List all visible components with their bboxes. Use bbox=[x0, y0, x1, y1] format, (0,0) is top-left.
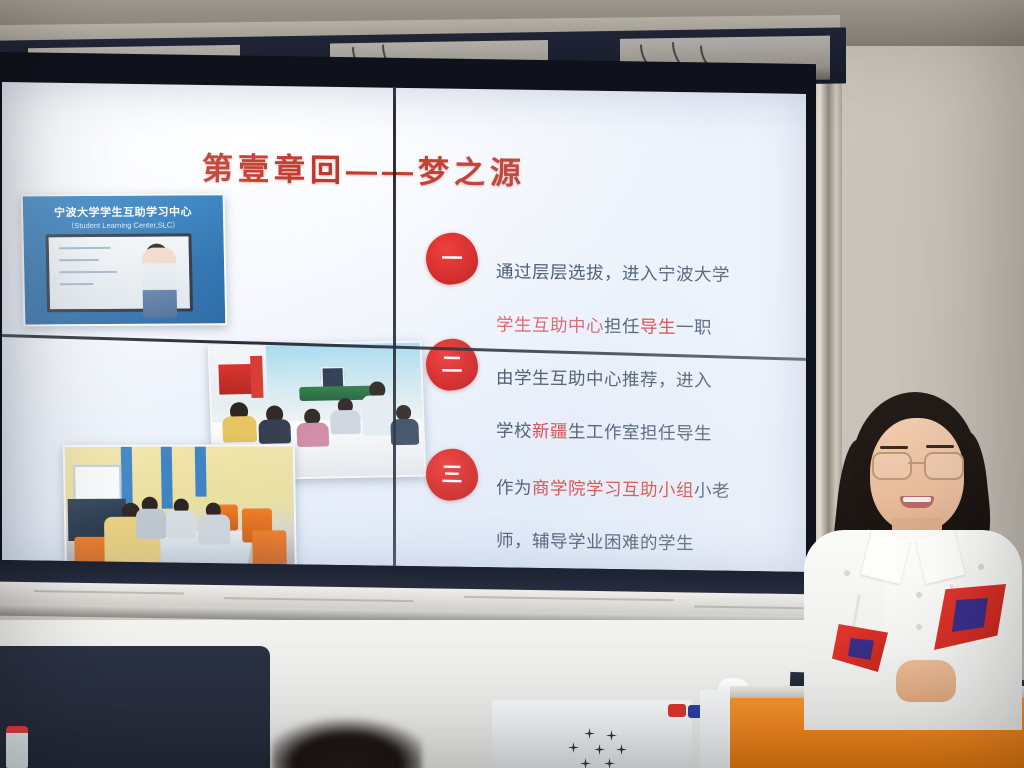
hands bbox=[896, 660, 956, 702]
seal-numeral: 二 bbox=[442, 354, 463, 375]
bullet-text-3: 作为商学院学习互助小组小老 师，辅导学业困难的学生 bbox=[496, 447, 730, 557]
bullet-3-hl-a: 商学院学习互助小组 bbox=[532, 477, 694, 499]
photo-caption-cn: 宁波大学学生互助学习中心 bbox=[29, 203, 217, 220]
slide-photo-slc-banner: 宁波大学学生互助学习中心 （Student Learning Center,SL… bbox=[21, 193, 228, 326]
water-bottle bbox=[6, 726, 28, 768]
flipchart-in-photo bbox=[73, 465, 122, 501]
bullet-1-hl-b: 导生 bbox=[640, 316, 676, 337]
red-toy bbox=[668, 704, 686, 717]
screenshot-scene: 第壹章回——梦之源 宁波大学学生互助学习中心 （Student Learning… bbox=[0, 0, 1024, 768]
bullet-1-plain-b: 担任 bbox=[604, 316, 640, 337]
photo-caption-en: （Student Learning Center,SLC） bbox=[29, 219, 217, 231]
presentation-slide: 第壹章回——梦之源 宁波大学学生互助学习中心 （Student Learning… bbox=[2, 82, 806, 572]
bullet-item-1: 一 通过层层选拔，进入宁波大学 学生互助中心担任导生一职 bbox=[426, 230, 756, 341]
bullet-3-line2: 师，辅导学业困难的学生 bbox=[496, 530, 694, 553]
video-wall-seam-vertical bbox=[393, 88, 396, 566]
slide-title: 第壹章回——梦之源 bbox=[202, 143, 622, 194]
bullet-1-hl-a: 学生互助中心 bbox=[496, 314, 604, 336]
seal-numeral: 三 bbox=[442, 464, 463, 485]
teeth bbox=[903, 497, 931, 502]
bullet-2-line1: 由学生互助中心推荐，进入 bbox=[496, 367, 712, 390]
student-presenter bbox=[796, 392, 1024, 722]
bullet-text-1: 通过层层选拔，进入宁波大学 学生互助中心担任导生一职 bbox=[496, 231, 730, 341]
bullet-1-line1: 通过层层选拔，进入宁波大学 bbox=[496, 261, 730, 284]
bullet-3-plain-a: 作为 bbox=[496, 477, 532, 498]
bullet-2-plain-a: 学校 bbox=[496, 420, 532, 441]
bullet-1-plain-c: 一职 bbox=[676, 317, 712, 338]
audience-head-foreground bbox=[272, 716, 422, 768]
seal-badge-3: 三 bbox=[426, 448, 478, 501]
eyeglasses-icon bbox=[872, 452, 964, 476]
video-wall: 第壹章回——梦之源 宁波大学学生互助学习中心 （Student Learning… bbox=[0, 52, 816, 596]
bullet-item-3: 三 作为商学院学习互助小组小老 师，辅导学业困难的学生 bbox=[426, 446, 772, 558]
cabinet-star-perforations bbox=[560, 724, 644, 768]
seal-badge-1: 一 bbox=[426, 232, 478, 285]
bullet-3-plain-b: 小老 bbox=[694, 480, 730, 501]
slide-photo-tutoring-group bbox=[63, 444, 298, 572]
seal-numeral: 一 bbox=[442, 248, 463, 269]
computer-monitor-back bbox=[0, 646, 270, 768]
bullet-2-hl-a: 新疆 bbox=[532, 421, 568, 442]
bullet-2-plain-b: 生工作室担任导生 bbox=[568, 421, 712, 443]
